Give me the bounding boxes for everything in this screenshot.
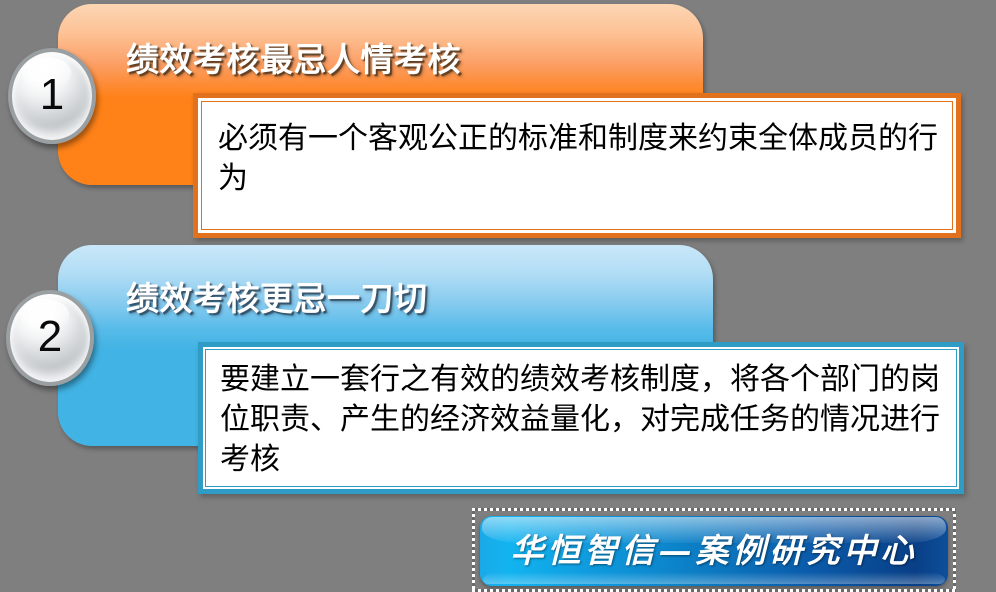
callout-box-2-inner: 要建立一套行之有效的绩效考核制度，将各个部门的岗位职责、产生的经济效益量化，对完… xyxy=(205,349,957,487)
number-badge-2-label: 2 xyxy=(38,315,62,359)
footer-banner-group[interactable]: 华恒智信—案例研究中心 xyxy=(472,508,956,592)
panel-title-2: 绩效考核更忌一刀切 xyxy=(126,272,428,320)
callout-body-1: 必须有一个客观公正的标准和制度来约束全体成员的行为 xyxy=(218,119,938,199)
callout-body-2: 要建立一套行之有效的绩效考核制度，将各个部门的岗位职责、产生的经济效益量化，对完… xyxy=(220,360,944,481)
slide-canvas: 绩效考核最忌人情考核 1 必须有一个客观公正的标准和制度来约束全体成员的行为 绩… xyxy=(0,0,996,592)
callout-box-1-inner: 必须有一个客观公正的标准和制度来约束全体成员的行为 xyxy=(201,101,953,230)
callout-box-2[interactable]: 要建立一套行之有效的绩效考核制度，将各个部门的岗位职责、产生的经济效益量化，对完… xyxy=(198,342,964,494)
panel-title-1: 绩效考核最忌人情考核 xyxy=(126,33,461,81)
callout-box-1[interactable]: 必须有一个客观公正的标准和制度来约束全体成员的行为 xyxy=(193,93,961,238)
number-badge-1[interactable]: 1 xyxy=(8,48,96,144)
footer-banner[interactable]: 华恒智信—案例研究中心 xyxy=(480,516,948,586)
number-badge-2[interactable]: 2 xyxy=(6,290,94,386)
footer-banner-label: 华恒智信—案例研究中心 xyxy=(480,516,948,586)
number-badge-1-label: 1 xyxy=(40,73,64,117)
